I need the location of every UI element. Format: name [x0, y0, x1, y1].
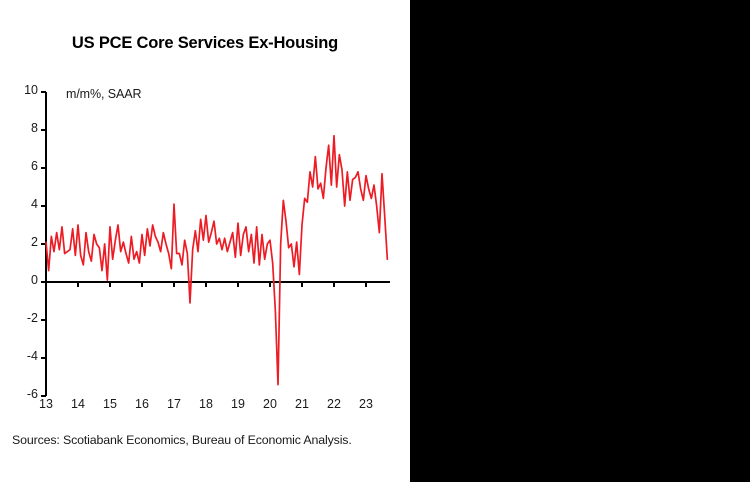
x-tick-label: 22 [322, 397, 346, 411]
chart-panel: US PCE Core Services Ex-Housing m/m%, SA… [0, 0, 410, 482]
x-tick-label: 20 [258, 397, 282, 411]
x-tick-label: 13 [34, 397, 58, 411]
y-tick-label: 2 [6, 235, 38, 249]
x-tick-label: 17 [162, 397, 186, 411]
y-tick-label: 6 [6, 159, 38, 173]
y-tick-label: 4 [6, 197, 38, 211]
y-tick-label: 0 [6, 273, 38, 287]
x-tick-label: 16 [130, 397, 154, 411]
data-line-series-0 [46, 136, 387, 385]
data-series-group [46, 136, 387, 385]
x-tick-label: 23 [354, 397, 378, 411]
y-tick-label: -4 [6, 349, 38, 363]
x-tick-label: 21 [290, 397, 314, 411]
x-tick-label: 14 [66, 397, 90, 411]
sources-note: Sources: Scotiabank Economics, Bureau of… [12, 432, 404, 449]
y-tick-label: 10 [6, 83, 38, 97]
x-tick-label: 18 [194, 397, 218, 411]
y-tick-label: -2 [6, 311, 38, 325]
plot-area: 1086420-2-4-6 1314151617181920212223 [0, 0, 410, 482]
x-tick-label: 15 [98, 397, 122, 411]
x-tick-label: 19 [226, 397, 250, 411]
y-tick-label: 8 [6, 121, 38, 135]
